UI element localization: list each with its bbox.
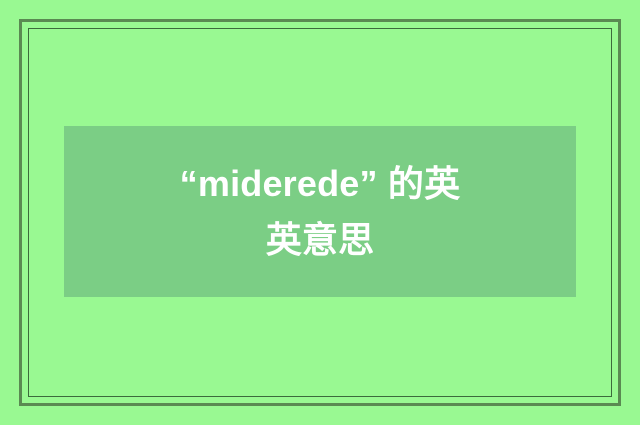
caption-text: “miderede” 的英英意思	[170, 156, 470, 268]
caption-panel: “miderede” 的英英意思	[64, 126, 576, 297]
image-canvas: “miderede” 的英英意思	[0, 0, 640, 425]
